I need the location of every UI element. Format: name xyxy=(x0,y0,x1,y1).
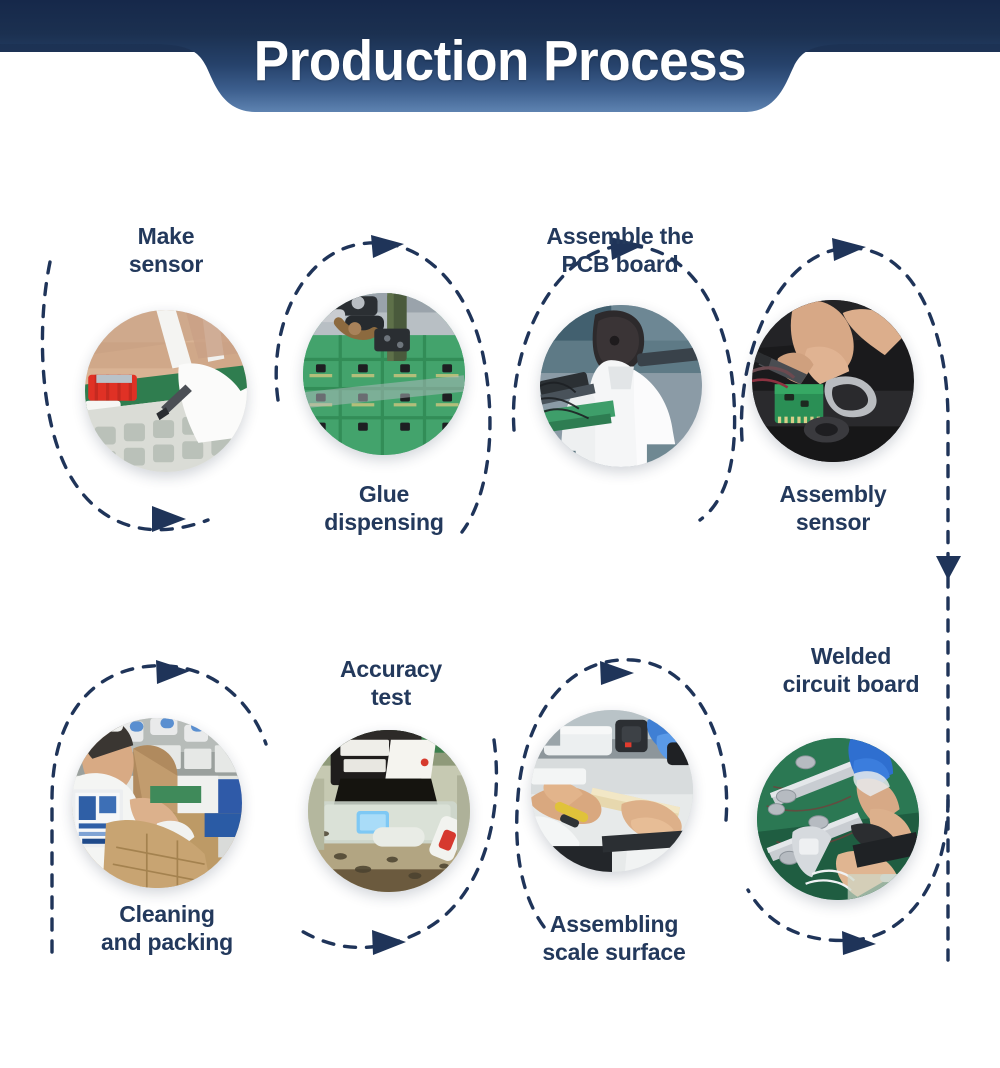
arrow-right-4 xyxy=(832,238,866,261)
photo-art-welded-circuit-board xyxy=(757,738,919,900)
photo-accuracy-test xyxy=(308,730,470,892)
photo-art-cleaning-and-packing xyxy=(72,718,242,888)
step-label-welded-circuit-board: Welded circuit board xyxy=(742,642,960,698)
step-label-cleaning-and-packing: Cleaning and packing xyxy=(52,900,282,956)
photo-art-accuracy-test xyxy=(308,730,470,892)
arrow-down-5 xyxy=(936,556,961,580)
step-label-assembling-scale-surface: Assembling scale surface xyxy=(501,910,727,966)
step-label-make-sensor: Make sensor xyxy=(56,222,276,278)
photo-welded-circuit-board xyxy=(757,738,919,900)
arrow-right-1 xyxy=(152,506,186,532)
photo-art-assembly-sensor xyxy=(752,300,914,462)
photo-art-make-sensor xyxy=(85,310,247,472)
arrow-right-2 xyxy=(371,235,404,258)
photo-art-assembling-scale-surface xyxy=(531,710,693,872)
step-label-accuracy-test: Accuracy test xyxy=(286,655,496,711)
arrow-left-7 xyxy=(600,661,634,685)
step-label-assembly-sensor: Assembly sensor xyxy=(723,480,943,536)
arrow-left-6 xyxy=(842,931,876,955)
photo-assemble-pcb xyxy=(540,305,702,467)
photo-assembly-sensor xyxy=(752,300,914,462)
photo-art-assemble-pcb xyxy=(540,305,702,467)
photo-make-sensor xyxy=(85,310,247,472)
photo-glue-dispensing xyxy=(303,293,465,455)
photo-cleaning-and-packing xyxy=(72,718,242,888)
step-label-assemble-pcb: Assemble the PCB board xyxy=(503,222,737,278)
photo-art-glue-dispensing xyxy=(303,293,465,455)
step-label-glue-dispensing: Glue dispensing xyxy=(274,480,494,536)
arrow-left-8 xyxy=(372,930,406,955)
header-banner: Production Process xyxy=(0,0,1000,126)
arrow-left-9 xyxy=(156,660,190,684)
banner-tab-shape xyxy=(0,0,1000,112)
photo-assembling-scale-surface xyxy=(531,710,693,872)
production-process-infographic: Production Process xyxy=(0,0,1000,1068)
